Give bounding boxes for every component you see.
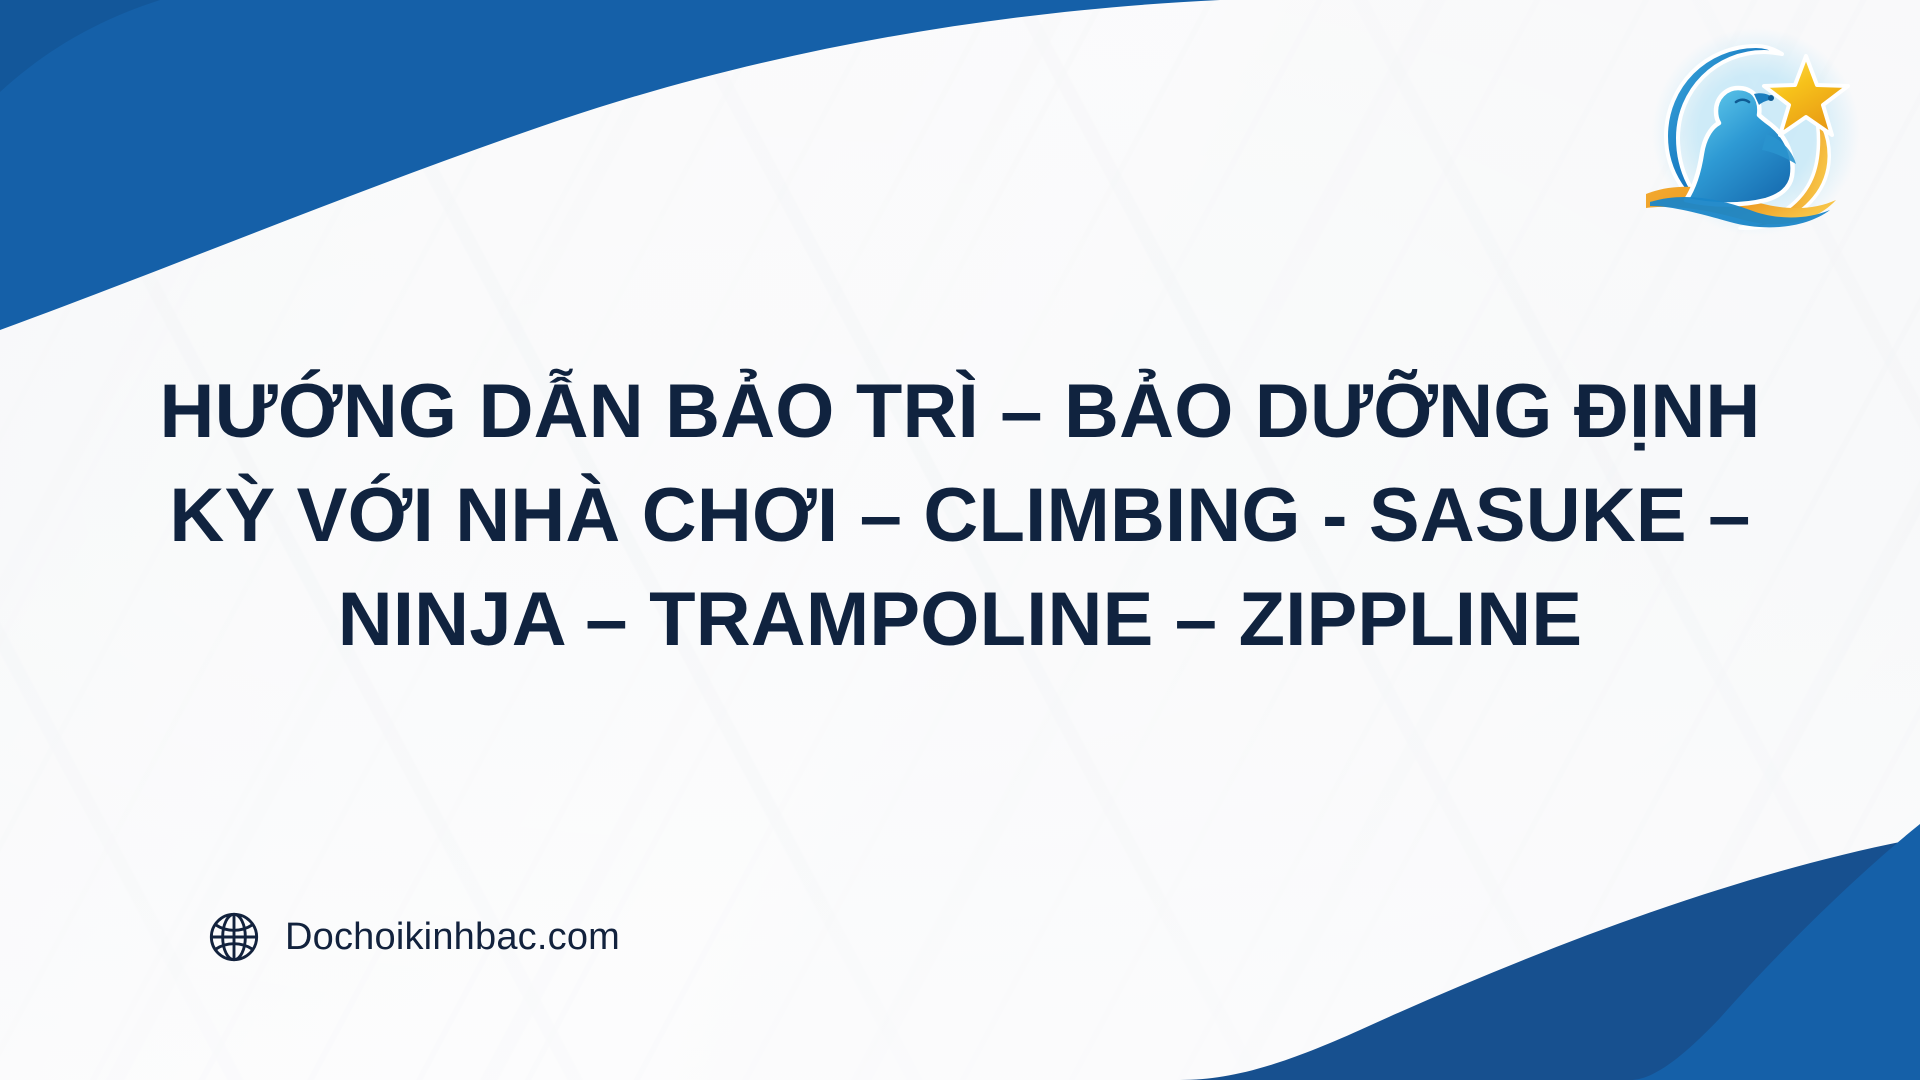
decorative-wave-top-left <box>0 0 1220 330</box>
banner-title-line-1: HƯỚNG DẪN BẢO TRÌ – BẢO DƯỠNG ĐỊNH <box>70 360 1850 464</box>
banner-title-line-2: KỲ VỚI NHÀ CHƠI – CLIMBING - SASUKE – <box>70 464 1850 568</box>
banner-canvas: HƯỚNG DẪN BẢO TRÌ – BẢO DƯỠNG ĐỊNH KỲ VỚ… <box>0 0 1920 1080</box>
website-url-text: Dochoikinhbac.com <box>285 916 620 959</box>
globe-icon <box>205 908 263 966</box>
decorative-wave-bottom-right-light <box>980 780 1920 1080</box>
website-row: Dochoikinhbac.com <box>205 908 620 966</box>
brand-logo <box>1620 22 1892 238</box>
banner-title-line-3: NINJA – TRAMPOLINE – ZIPPLINE <box>70 568 1850 672</box>
seal-star-moon-logo-icon <box>1620 22 1892 238</box>
banner-title: HƯỚNG DẪN BẢO TRÌ – BẢO DƯỠNG ĐỊNH KỲ VỚ… <box>0 360 1920 672</box>
